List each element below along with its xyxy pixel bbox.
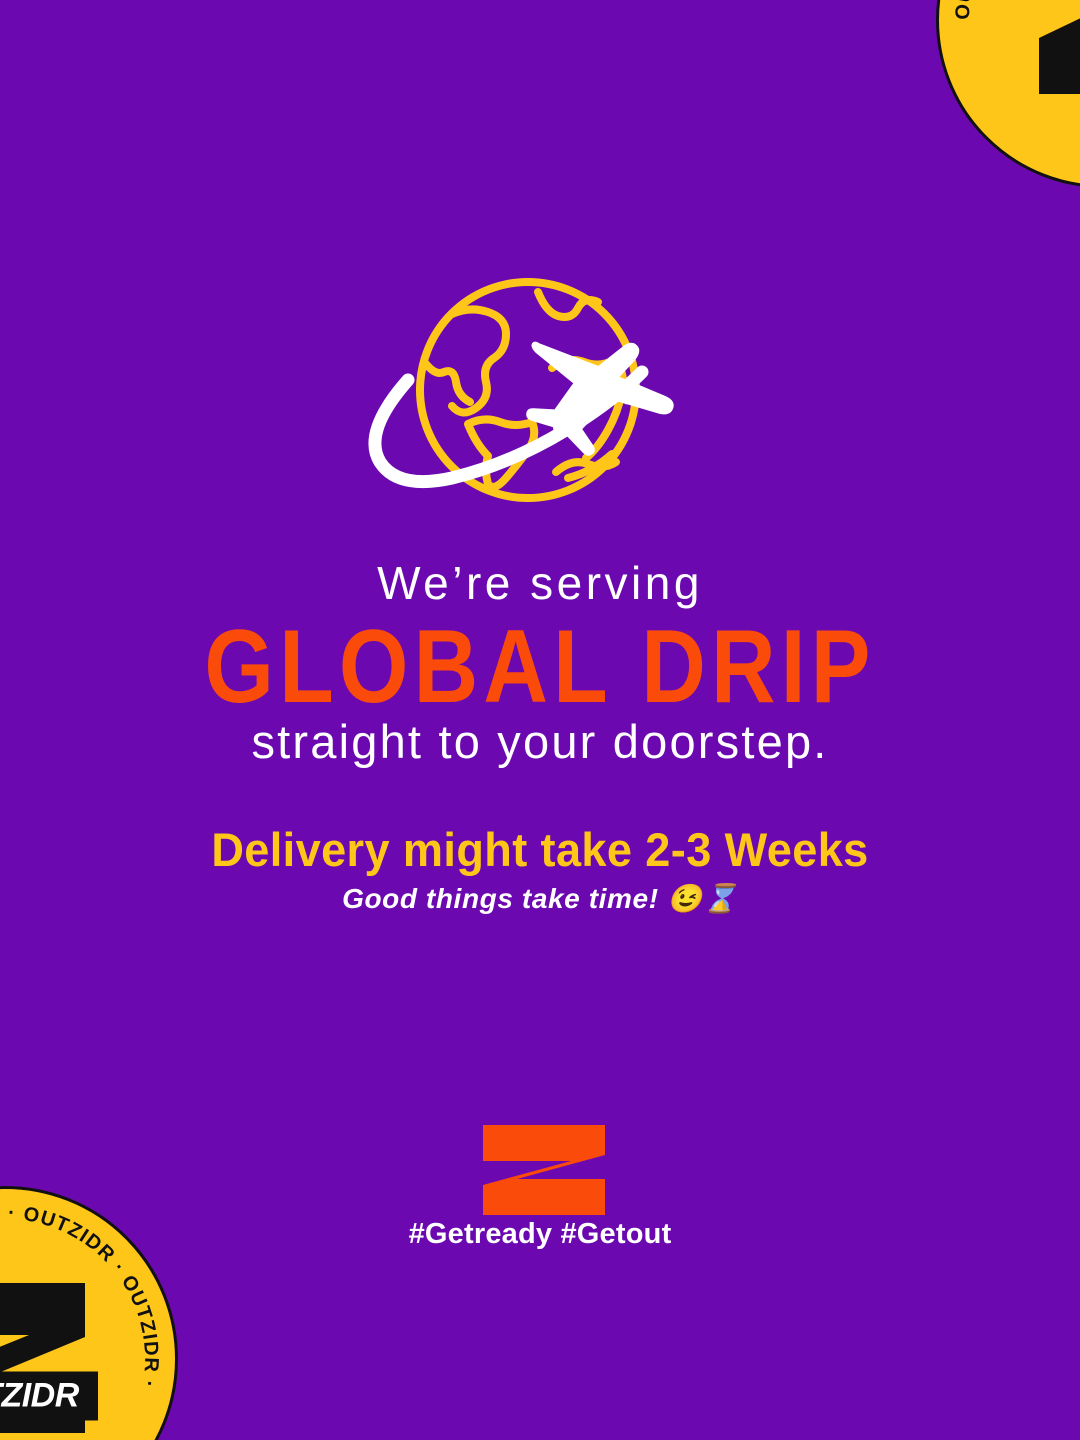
badge-center-z-top-right	[1029, 0, 1080, 100]
poster-canvas: OUTZIDR · OUTZIDR · OUTZIDR · OUTZIDR · …	[0, 0, 1080, 1440]
delivery-notice-text: Delivery might take 2-3 Weeks	[22, 822, 1059, 877]
eyebrow-text: We’re serving	[0, 556, 1080, 610]
subline-text: straight to your doorstep.	[0, 714, 1080, 769]
hashtags-text: #Getready #Getout	[0, 1218, 1080, 1251]
globe-airplane-icon	[360, 272, 720, 512]
outzidr-sticker-top-right: OUTZIDR · OUTZIDR · OUTZIDR · OUTZIDR ·	[936, 0, 1080, 188]
headline-text: GLOBAL DRIP	[76, 608, 1005, 728]
badge-center-word: OUTZIDR	[0, 1372, 98, 1421]
delivery-reassurance-text: Good things take time! 😉⌛	[0, 882, 1080, 915]
outzidr-z-logo	[481, 1124, 607, 1216]
